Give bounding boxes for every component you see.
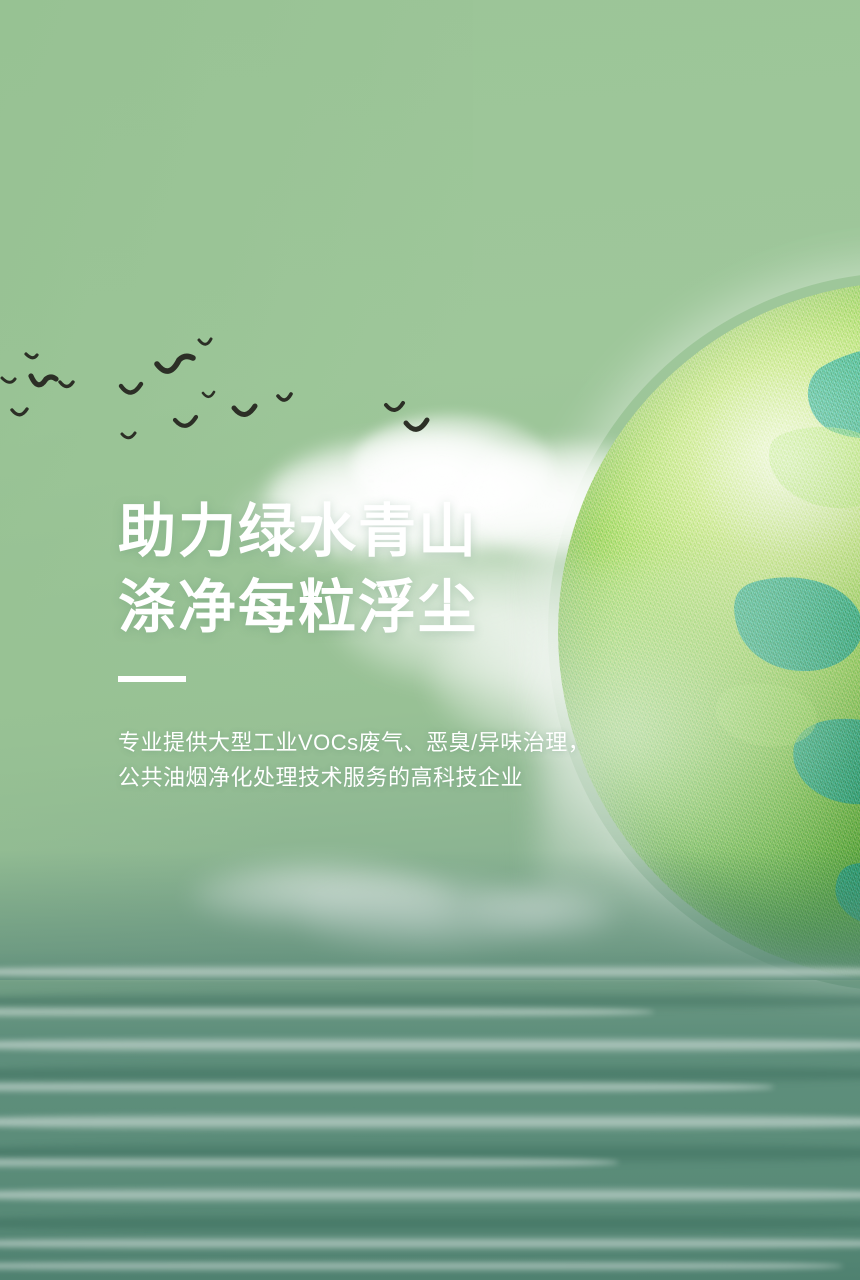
bird-icon xyxy=(60,382,73,387)
bird-icon xyxy=(278,394,291,400)
bird-icon xyxy=(234,406,255,415)
headline-line-1: 助力绿水青山 xyxy=(118,494,758,570)
bird-icon xyxy=(406,420,427,429)
bird-icon xyxy=(121,384,141,393)
bird-icon xyxy=(203,392,214,397)
bird-icon xyxy=(31,376,56,385)
headline-line-2: 涤净每粒浮尘 xyxy=(118,570,758,646)
bird-icon xyxy=(175,417,196,426)
hero-banner: 助力绿水青山 涤净每粒浮尘 专业提供大型工业VOCs废气、恶臭/异味治理， 公共… xyxy=(0,0,860,1280)
bird-icon xyxy=(26,354,37,358)
bird-flock xyxy=(0,330,470,460)
water-surface xyxy=(0,950,860,1280)
bird-icon xyxy=(2,378,15,382)
subcopy-line-2: 公共油烟净化处理技术服务的高科技企业 xyxy=(118,760,758,795)
hero-copy: 助力绿水青山 涤净每粒浮尘 专业提供大型工业VOCs废气、恶臭/异味治理， 公共… xyxy=(118,494,758,795)
bird-icon xyxy=(122,433,135,438)
headline-divider xyxy=(118,676,186,682)
subcopy-line-1: 专业提供大型工业VOCs废气、恶臭/异味治理， xyxy=(118,725,758,760)
bird-icon xyxy=(386,403,403,410)
bird-icon xyxy=(157,356,193,371)
bird-icon xyxy=(199,339,211,344)
bird-icon xyxy=(12,409,27,415)
